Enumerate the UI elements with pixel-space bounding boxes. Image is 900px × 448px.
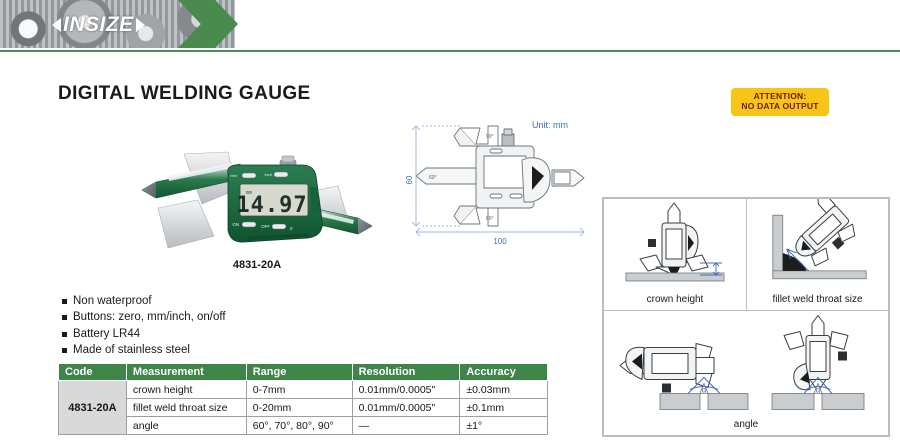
table-row: angle 60°, 70°, 80°, 90° — ±1° <box>59 417 548 435</box>
svg-text:90°: 90° <box>486 134 494 140</box>
technical-drawing: 90° 60° 80° 60 100 <box>402 112 602 247</box>
svg-text:14.97: 14.97 <box>236 193 307 218</box>
application-cell-angle: α <box>604 311 888 435</box>
cell-resolution: — <box>352 417 460 435</box>
application-label-fillet-weld: fillet weld throat size <box>747 295 888 310</box>
cell-measurement: angle <box>126 417 246 435</box>
cell-range: 60°, 70°, 80°, 90° <box>246 417 352 435</box>
svg-text:80°: 80° <box>486 216 494 222</box>
feature-label: Made of stainless steel <box>73 343 190 357</box>
unit-label: Unit: mm <box>532 120 568 130</box>
bullet-square-icon <box>62 299 67 304</box>
crown-height-illustration <box>604 199 746 295</box>
list-item: Buttons: zero, mm/inch, on/off <box>62 310 226 324</box>
svg-text:mm: mm <box>230 173 237 178</box>
cell-accuracy: ±0.1mm <box>460 399 548 417</box>
cell-range: 0-7mm <box>246 381 352 399</box>
column-header-range: Range <box>246 364 352 381</box>
svg-text:inch: inch <box>265 172 272 177</box>
bullet-square-icon <box>62 315 67 320</box>
svg-text:OFF: OFF <box>261 224 270 229</box>
bullet-square-icon <box>62 332 67 337</box>
header-divider <box>0 50 900 52</box>
cell-accuracy: ±0.03mm <box>460 381 548 399</box>
column-header-measurement: Measurement <box>126 364 246 381</box>
svg-text:ON: ON <box>232 222 239 227</box>
table-row: fillet weld throat size 0-20mm 0.01mm/0.… <box>59 399 548 417</box>
svg-text:α: α <box>702 386 707 395</box>
cell-measurement: fillet weld throat size <box>126 399 246 417</box>
svg-text:60: 60 <box>405 175 414 184</box>
feature-list: Non waterproof Buttons: zero, mm/inch, o… <box>62 294 226 360</box>
logo-right-arrow-icon <box>136 18 145 32</box>
feature-label: Non waterproof <box>73 294 152 308</box>
cell-range: 0-20mm <box>246 399 352 417</box>
fillet-weld-illustration <box>747 199 888 295</box>
attention-badge: ATTENTION: NO DATA OUTPUT <box>731 88 829 116</box>
product-photo: mm 14.97 mm inch ON OFF 0 <box>132 150 382 265</box>
cell-resolution: 0.01mm/0.0005" <box>352 381 460 399</box>
insize-logo: INSIZE <box>52 13 145 37</box>
header-banner: INSIZE <box>0 0 900 52</box>
column-header-code: Code <box>59 364 127 381</box>
feature-label: Battery LR44 <box>73 327 140 341</box>
technical-drawing-svg: 90° 60° 80° 60 100 <box>402 112 602 247</box>
application-cell-fillet-weld: fillet weld throat size <box>746 199 888 310</box>
list-item: Non waterproof <box>62 294 226 308</box>
bullet-square-icon <box>62 348 67 353</box>
cell-resolution: 0.01mm/0.0005" <box>352 399 460 417</box>
column-header-resolution: Resolution <box>352 364 460 381</box>
svg-text:α: α <box>816 386 821 395</box>
brand-name: INSIZE <box>63 13 134 37</box>
svg-text:60°: 60° <box>429 175 437 181</box>
table-header-row: Code Measurement Range Resolution Accura… <box>59 364 548 381</box>
attention-badge-line2: NO DATA OUTPUT <box>741 102 818 112</box>
specification-table: Code Measurement Range Resolution Accura… <box>58 363 548 435</box>
application-label-crown-height: crown height <box>604 295 746 310</box>
list-item: Battery LR44 <box>62 327 226 341</box>
list-item: Made of stainless steel <box>62 343 226 357</box>
application-cell-crown-height: crown height <box>604 199 746 310</box>
cell-accuracy: ±1° <box>460 417 548 435</box>
angle-illustration: α <box>604 311 888 420</box>
page-title: DIGITAL WELDING GAUGE <box>58 83 311 105</box>
product-photo-illustration: mm 14.97 mm inch ON OFF 0 <box>132 150 382 265</box>
column-header-accuracy: Accuracy <box>460 364 548 381</box>
application-label-angle: angle <box>604 420 888 435</box>
cell-code: 4831-20A <box>59 381 127 435</box>
feature-label: Buttons: zero, mm/inch, on/off <box>73 310 226 324</box>
svg-text:100: 100 <box>493 237 507 246</box>
datasheet-page: INSIZE DIGITAL WELDING GAUGE ATTENTION: … <box>0 0 900 448</box>
application-panel: crown height <box>602 197 890 437</box>
table-row: 4831-20A crown height 0-7mm 0.01mm/0.000… <box>59 381 548 399</box>
logo-left-arrow-icon <box>52 18 61 32</box>
cell-measurement: crown height <box>126 381 246 399</box>
product-model-caption: 4831-20A <box>132 259 382 271</box>
